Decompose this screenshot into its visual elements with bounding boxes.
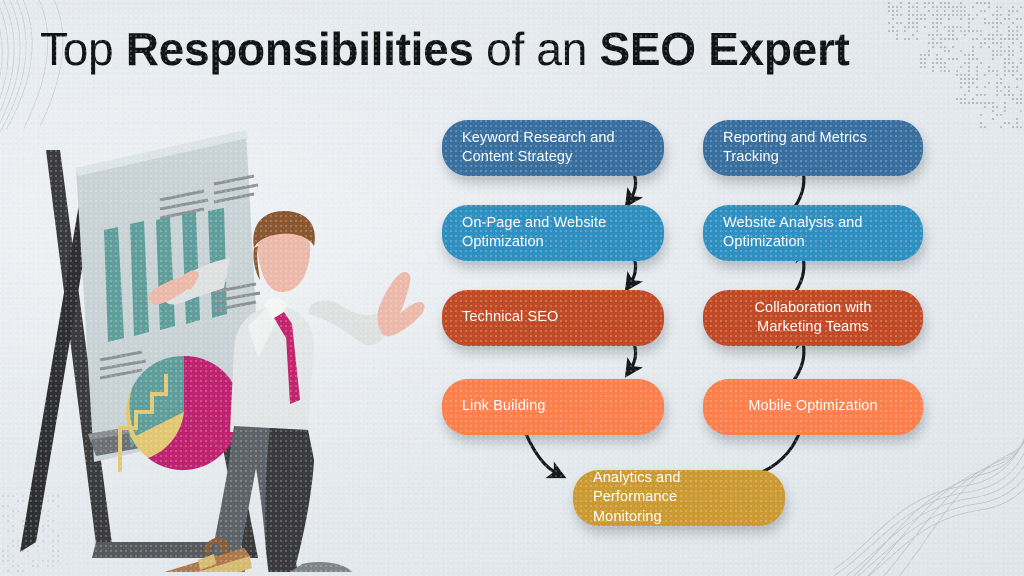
node-label-line: Content Strategy [462, 148, 615, 167]
node-label-line: On-Page and Website [462, 214, 606, 233]
flow-node-on-page-optimization[interactable]: On-Page and Website Optimization [442, 205, 664, 261]
node-label-line: Website Analysis and [723, 214, 863, 233]
flow-diagram: Keyword Research and Content Strategy On… [432, 112, 1018, 564]
node-label-line: Optimization [723, 233, 863, 252]
node-label-line: Link Building [462, 397, 546, 416]
flow-node-reporting-metrics[interactable]: Reporting and Metrics Tracking [703, 120, 923, 176]
node-label-line: Monitoring [593, 508, 765, 527]
flow-node-link-building[interactable]: Link Building [442, 379, 664, 435]
title-part-responsibilities: Responsibilities [126, 23, 474, 75]
node-label-line: Marketing Teams [754, 318, 871, 337]
dotted-world-map-decoration [874, 0, 1024, 130]
node-label-line: Optimization [462, 233, 606, 252]
node-label-line: Reporting and Metrics [723, 129, 867, 148]
node-label-line: Tracking [723, 148, 867, 167]
title-part-seo-expert: SEO Expert [599, 23, 849, 75]
flow-node-analytics-monitoring[interactable]: Analytics and Performance Monitoring [573, 470, 785, 526]
arrow-link-to-analytics [526, 434, 558, 474]
node-label-line: Keyword Research and [462, 129, 615, 148]
title-part-of-an: of an [474, 23, 600, 75]
node-label-line: Collaboration with [754, 299, 871, 318]
infographic-canvas: Top Responsibilities of an SEO Expert [0, 0, 1024, 576]
flow-node-collaboration-marketing[interactable]: Collaboration with Marketing Teams [703, 290, 923, 346]
flow-node-mobile-optimization[interactable]: Mobile Optimization [703, 379, 923, 435]
flow-node-technical-seo[interactable]: Technical SEO [442, 290, 664, 346]
title-part-top: Top [40, 23, 126, 75]
node-label-line: Mobile Optimization [748, 397, 877, 416]
node-label-line: Analytics and Performance [593, 469, 765, 507]
businessman-presenting-illustration [8, 112, 428, 572]
page-title: Top Responsibilities of an SEO Expert [40, 24, 850, 75]
flow-node-keyword-research[interactable]: Keyword Research and Content Strategy [442, 120, 664, 176]
node-label-line: Technical SEO [462, 308, 558, 327]
flow-node-website-analysis[interactable]: Website Analysis and Optimization [703, 205, 923, 261]
